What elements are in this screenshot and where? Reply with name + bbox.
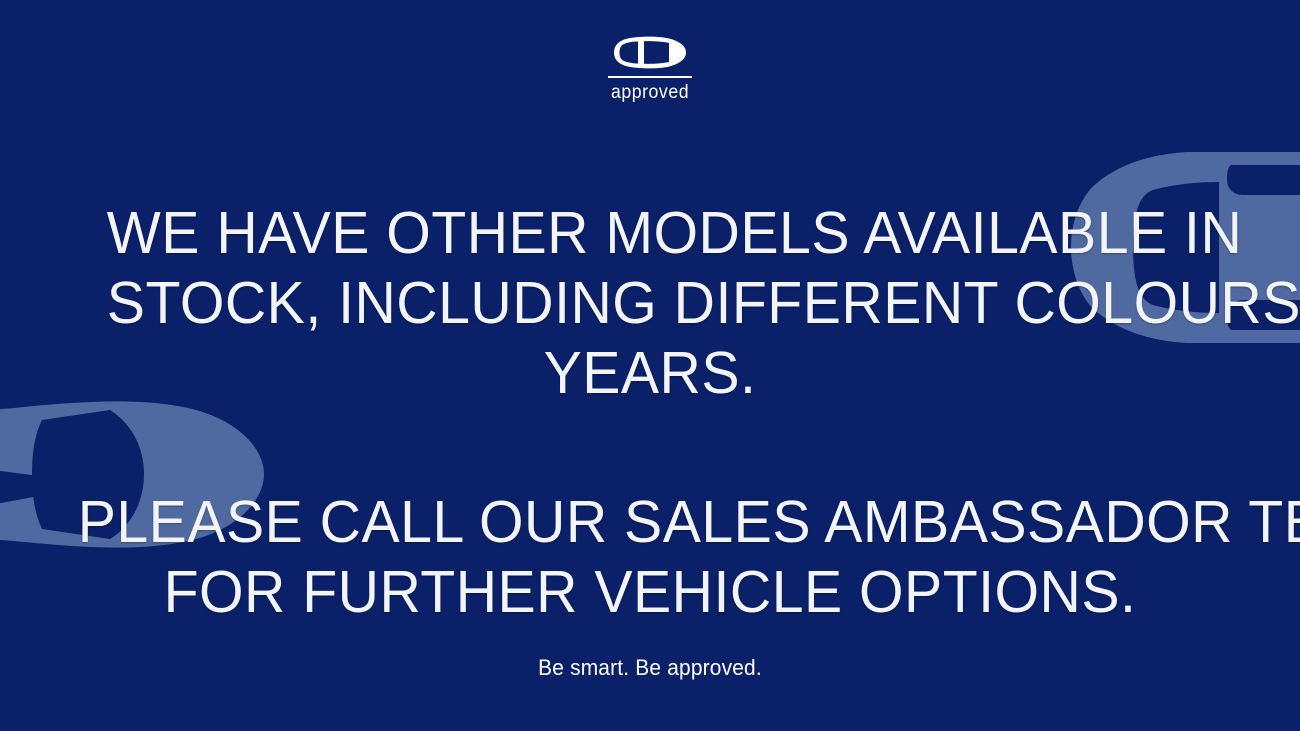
subheadline-line-1: PLEASE CALL OUR SALES AMBASSADOR TEAM	[78, 487, 1223, 557]
tagline: Be smart. Be approved.	[33, 655, 1268, 681]
promo-slide: approved WE HAVE OTHER MODELS AVAILABLE …	[0, 0, 1300, 731]
headline: WE HAVE OTHER MODELS AVAILABLE IN STOCK,…	[90, 198, 1210, 408]
headline-line-2: STOCK, INCLUDING DIFFERENT COLOURS AND	[107, 268, 1193, 338]
subheadline: PLEASE CALL OUR SALES AMBASSADOR TEAM FO…	[60, 487, 1240, 627]
logo-wordmark: approved	[611, 83, 689, 102]
brand-logo: approved	[0, 36, 1300, 102]
logo-divider	[608, 76, 692, 78]
subheadline-line-2: FOR FURTHER VEHICLE OPTIONS.	[78, 557, 1223, 627]
headline-line-1: WE HAVE OTHER MODELS AVAILABLE IN	[107, 198, 1193, 268]
approved-car-logo-icon	[613, 36, 687, 69]
headline-line-3: YEARS.	[107, 338, 1193, 408]
